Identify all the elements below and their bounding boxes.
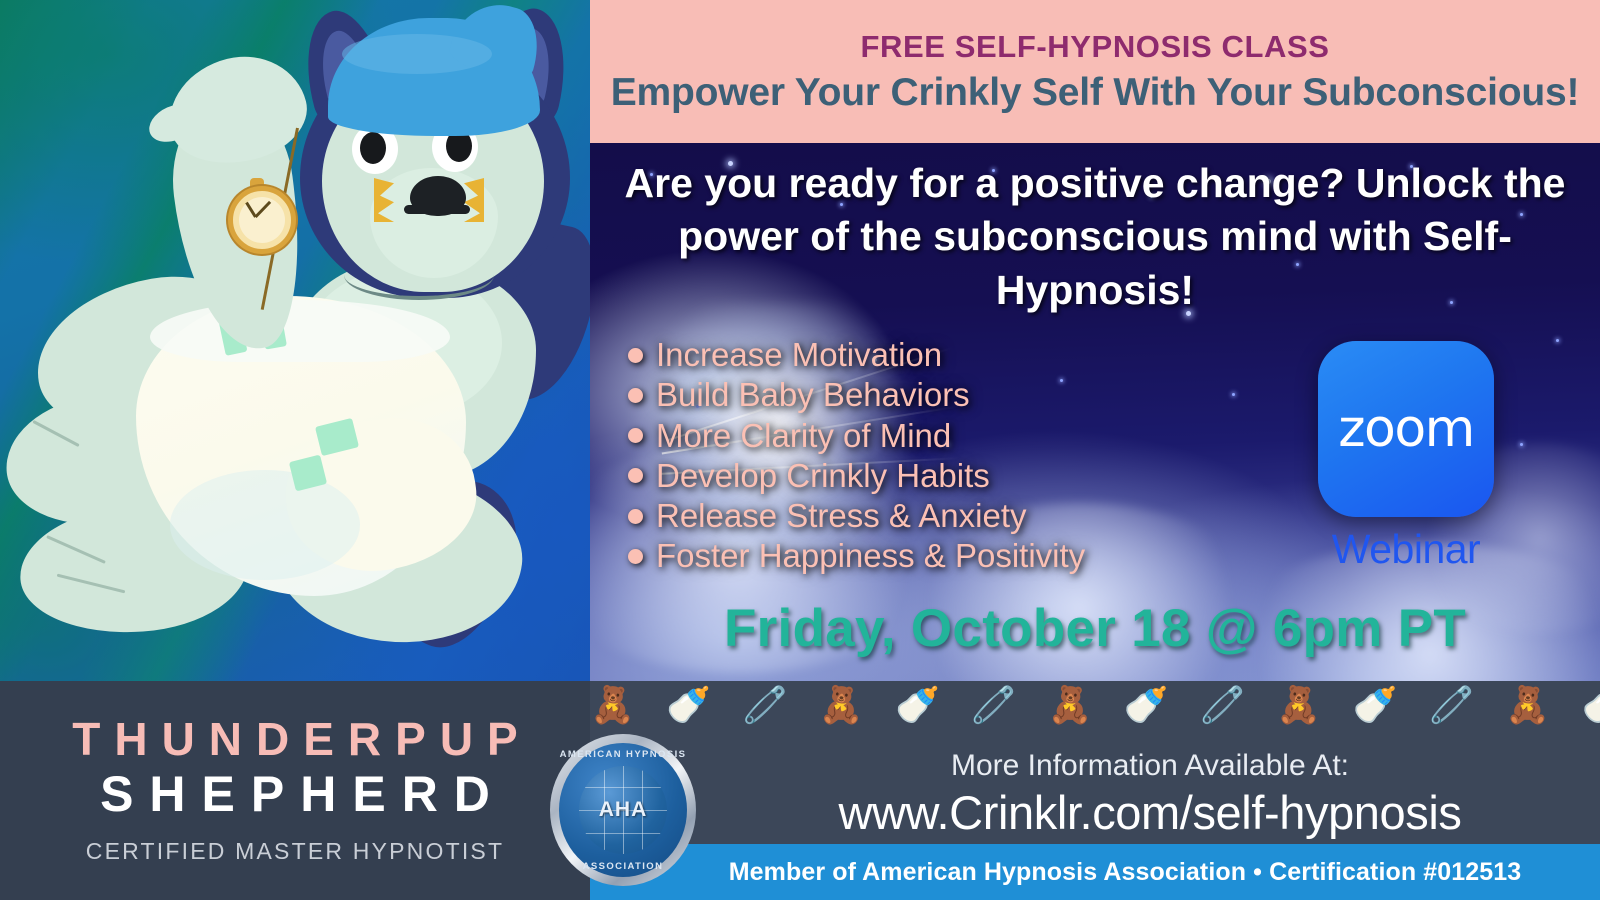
husky-character-illustration (0, 0, 590, 681)
brand-footer: THUNDERPUP SHEPHERD CERTIFIED MASTER HYP… (0, 681, 590, 900)
certification-bar: Member of American Hypnosis Association … (590, 844, 1600, 900)
more-info-label: More Information Available At: (700, 749, 1600, 783)
main-headline: Are you ready for a positive change? Unl… (590, 157, 1600, 317)
character-hair-highlight (342, 34, 492, 74)
zoom-wordmark: zoom (1338, 399, 1474, 459)
star-dot (1520, 443, 1523, 446)
star-dot (1232, 393, 1235, 396)
seal-bottom-text: ASSOCIATION (550, 861, 696, 872)
zoom-logo-icon: zoom (1318, 341, 1494, 517)
banner-kicker-text: FREE SELF-HYPNOSIS CLASS (860, 29, 1329, 65)
character-artwork (0, 0, 590, 681)
brand-last-name: SHEPHERD (84, 768, 506, 821)
globe-parallel (579, 787, 667, 788)
benefit-item: Build Baby Behaviors (628, 375, 1085, 415)
certification-text: Member of American Hypnosis Association … (669, 858, 1522, 887)
main-content-panel: Are you ready for a positive change? Unl… (590, 143, 1600, 681)
event-datetime: Friday, October 18 @ 6pm PT (590, 598, 1600, 659)
benefits-list: Increase Motivation Build Baby Behaviors… (628, 335, 1085, 577)
character-left-pupil (360, 132, 386, 164)
american-hypnosis-association-seal-icon: AMERICAN HYPNOSIS AHA ASSOCIATION (550, 734, 696, 886)
globe-parallel (579, 833, 667, 834)
benefit-item: Foster Happiness & Positivity (628, 536, 1085, 576)
character-mouth (404, 205, 470, 214)
seal-acronym: AHA (599, 798, 648, 822)
seal-top-text: AMERICAN HYPNOSIS (550, 749, 696, 760)
baby-emoji-strip: 🧸 🍼 🧷 🧸 🍼 🧷 🧸 🍼 🧷 🧸 🍼 🧷 🧸 🍼 🧷 🧸 🍼 🧷 (590, 683, 1600, 728)
info-footer: 🧸 🍼 🧷 🧸 🍼 🧷 🧸 🍼 🧷 🧸 🍼 🧷 🧸 🍼 🧷 🧸 🍼 🧷 More… (590, 681, 1600, 900)
website-url[interactable]: www.Crinklr.com/self-hypnosis (700, 785, 1600, 840)
header-banner: FREE SELF-HYPNOSIS CLASS Empower Your Cr… (590, 0, 1600, 143)
benefit-item: Develop Crinkly Habits (628, 456, 1085, 496)
brand-first-name: THUNDERPUP (58, 716, 531, 762)
star-dot (1556, 339, 1559, 342)
webinar-caption: Webinar (1290, 526, 1522, 573)
diaper-shading (170, 470, 360, 580)
flyer-poster: THUNDERPUP SHEPHERD CERTIFIED MASTER HYP… (0, 0, 1600, 900)
benefit-item: Release Stress & Anxiety (628, 496, 1085, 536)
banner-title-text: Empower Your Crinkly Self With Your Subc… (611, 71, 1580, 115)
pocket-watch-icon (228, 186, 296, 254)
brand-tagline: CERTIFIED MASTER HYPNOTIST (86, 838, 504, 865)
benefit-item: Increase Motivation (628, 335, 1085, 375)
benefit-item: More Clarity of Mind (628, 416, 1085, 456)
